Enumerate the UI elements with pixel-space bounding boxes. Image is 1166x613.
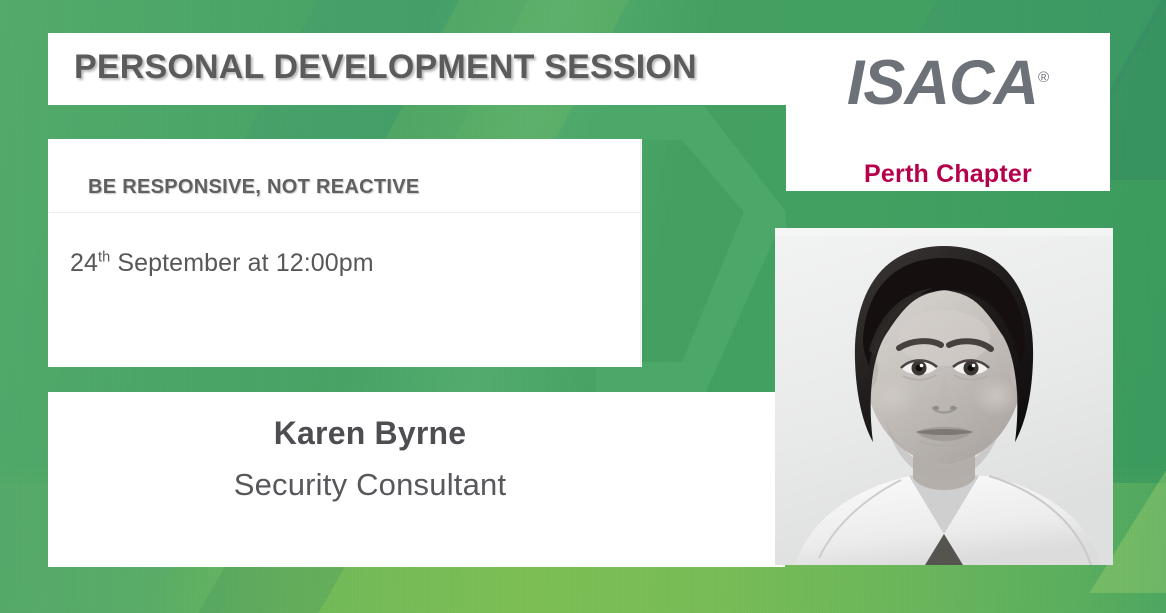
session-date: 24th September at 12:00pm bbox=[70, 249, 374, 278]
speaker-name: Karen Byrne bbox=[0, 415, 740, 452]
registered-trademark-icon: ® bbox=[1038, 69, 1049, 86]
session-date-ordinal: th bbox=[98, 250, 110, 266]
isaca-wordmark-text: ISACA bbox=[847, 48, 1038, 118]
speaker-role: Security Consultant bbox=[0, 467, 740, 503]
session-date-day: 24 bbox=[70, 249, 98, 277]
chapter-name: Perth Chapter bbox=[786, 160, 1110, 189]
speaker-photo bbox=[775, 228, 1113, 565]
session-subtitle: BE RESPONSIVE, NOT REACTIVE bbox=[88, 176, 420, 199]
isaca-logo: ISACA® bbox=[810, 52, 1086, 115]
panel-divider-horizontal bbox=[48, 212, 640, 213]
session-date-rest: September at 12:00pm bbox=[110, 249, 373, 277]
page-title: PERSONAL DEVELOPMENT SESSION bbox=[74, 48, 697, 87]
panel-divider-vertical bbox=[640, 139, 641, 367]
event-flyer: PERSONAL DEVELOPMENT SESSION BE RESPONSI… bbox=[0, 0, 1166, 613]
